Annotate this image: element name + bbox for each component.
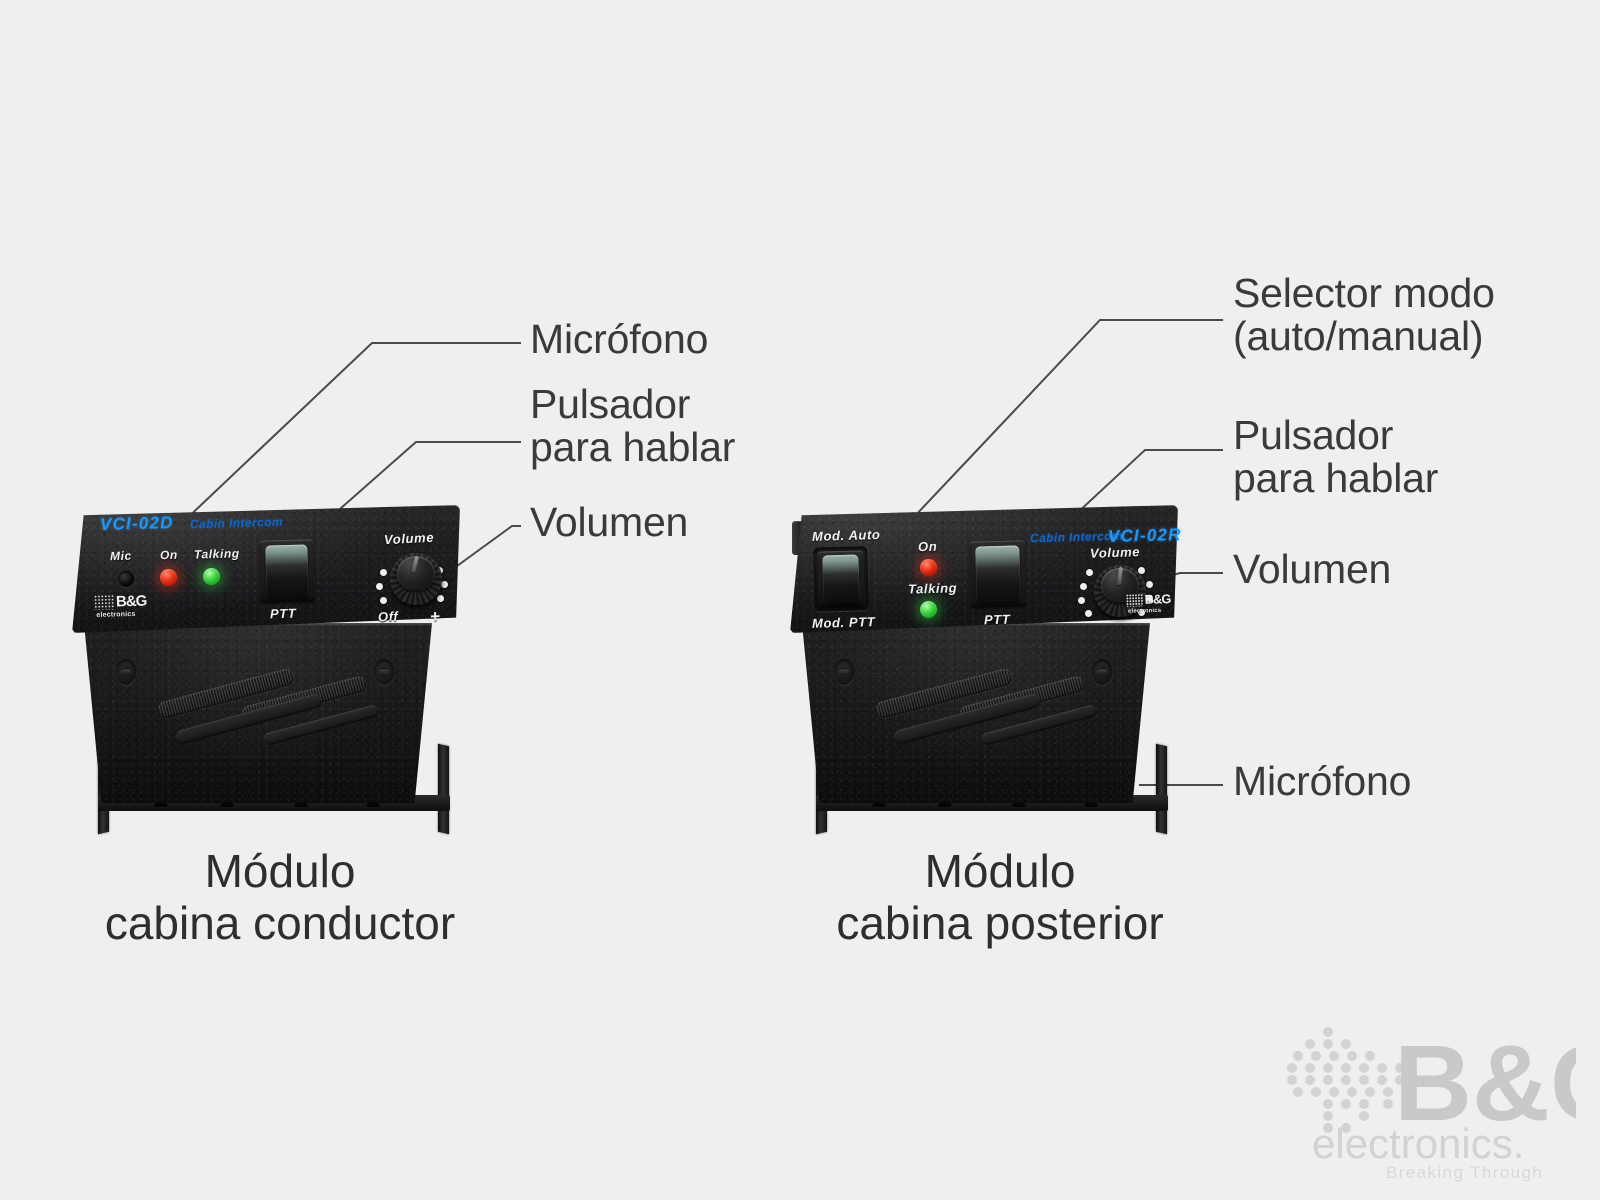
callout-right-microfono: Micrófono [1233,760,1411,803]
callout-right-volumen: Volumen [1233,548,1391,591]
mic-label: Mic [110,549,132,564]
volume-control[interactable]: Volume Off + [374,531,454,623]
on-label: On [918,539,938,555]
speaker-grille [144,663,374,759]
mounting-bracket-right [438,744,449,835]
volume-label: Volume [384,530,435,548]
callout-left-pulsador: Pulsador para hablar [530,383,735,470]
led-talking [203,568,220,585]
model-name: VCI-02D [100,513,174,535]
screw-boss-right [1092,659,1112,685]
mode-selector-switch[interactable] [817,550,865,607]
callout-left-microfono: Micrófono [530,318,708,361]
talking-label: Talking [908,580,958,596]
screw-boss-right [374,659,394,685]
callout-right-pulsador: Pulsador para hablar [1233,414,1438,501]
model-name: VCI-02R [1108,525,1182,547]
led-on [920,559,937,576]
mounting-bracket-right [1156,744,1167,835]
on-label: On [160,548,178,562]
module-rear-cabin: Cabin Intercom VCI-02R Mod. Auto Mod. PT… [790,505,1210,825]
control-panel-contents: Cabin Intercom VCI-02R Mod. Auto Mod. PT… [790,505,1178,633]
volume-label: Volume [1090,544,1141,561]
watermark-tagline-text: Breaking Through [1386,1163,1543,1182]
bg-logo-panel: B&G electronics [1126,593,1171,607]
ptt-label: PTT [270,606,297,622]
watermark-dot-matrix [1287,1027,1405,1133]
led-on [160,569,177,586]
logo-bg-text: B&G [116,594,147,608]
talking-label: Talking [194,546,240,561]
mode-auto-label: Mod. Auto [812,527,881,544]
speaker-grille [862,663,1092,759]
diagram-canvas: VCI-02D Cabin Intercom Mic On Talking PT… [0,0,1600,1200]
ptt-switch-key[interactable] [265,544,309,597]
logo-dot-matrix [1126,594,1143,607]
caption-driver-module: Módulo cabina conductor [40,845,520,950]
screw-boss-left [834,659,854,685]
ptt-switch-key[interactable] [975,546,1020,603]
ptt-switch[interactable] [969,540,1027,608]
volume-knob[interactable] [390,553,442,605]
bg-electronics-watermark: B&G electronics. Breaking Through [1276,1002,1576,1182]
module-body [802,623,1150,803]
caption-rear-module: Módulo cabina posterior [760,845,1240,950]
product-line-label: Cabin Intercom [190,515,283,532]
module-body [84,623,432,803]
logo-electronics-text: electronics [96,611,135,619]
ptt-switch[interactable] [259,539,315,602]
callout-right-selector: Selector modo (auto/manual) [1233,272,1495,359]
logo-bg-text: B&G [1145,594,1171,606]
module-driver-cabin: VCI-02D Cabin Intercom Mic On Talking PT… [72,505,492,825]
mode-selector-key[interactable] [822,555,859,603]
microphone-hole [118,571,134,587]
control-panel-contents: VCI-02D Cabin Intercom Mic On Talking PT… [72,505,460,633]
bg-logo-panel: B&G electronics [94,594,147,610]
screw-boss-left [116,659,136,685]
mode-ptt-label: Mod. PTT [812,614,876,631]
volume-max-label: + [430,607,441,627]
volume-min-label: Off [378,609,399,625]
led-talking [920,601,937,618]
logo-dot-matrix [94,594,114,610]
callout-left-volumen: Volumen [530,501,688,544]
ptt-label: PTT [984,612,1011,628]
logo-electronics-text: electronics [1128,608,1161,615]
watermark-electronics-text: electronics. [1312,1120,1524,1167]
